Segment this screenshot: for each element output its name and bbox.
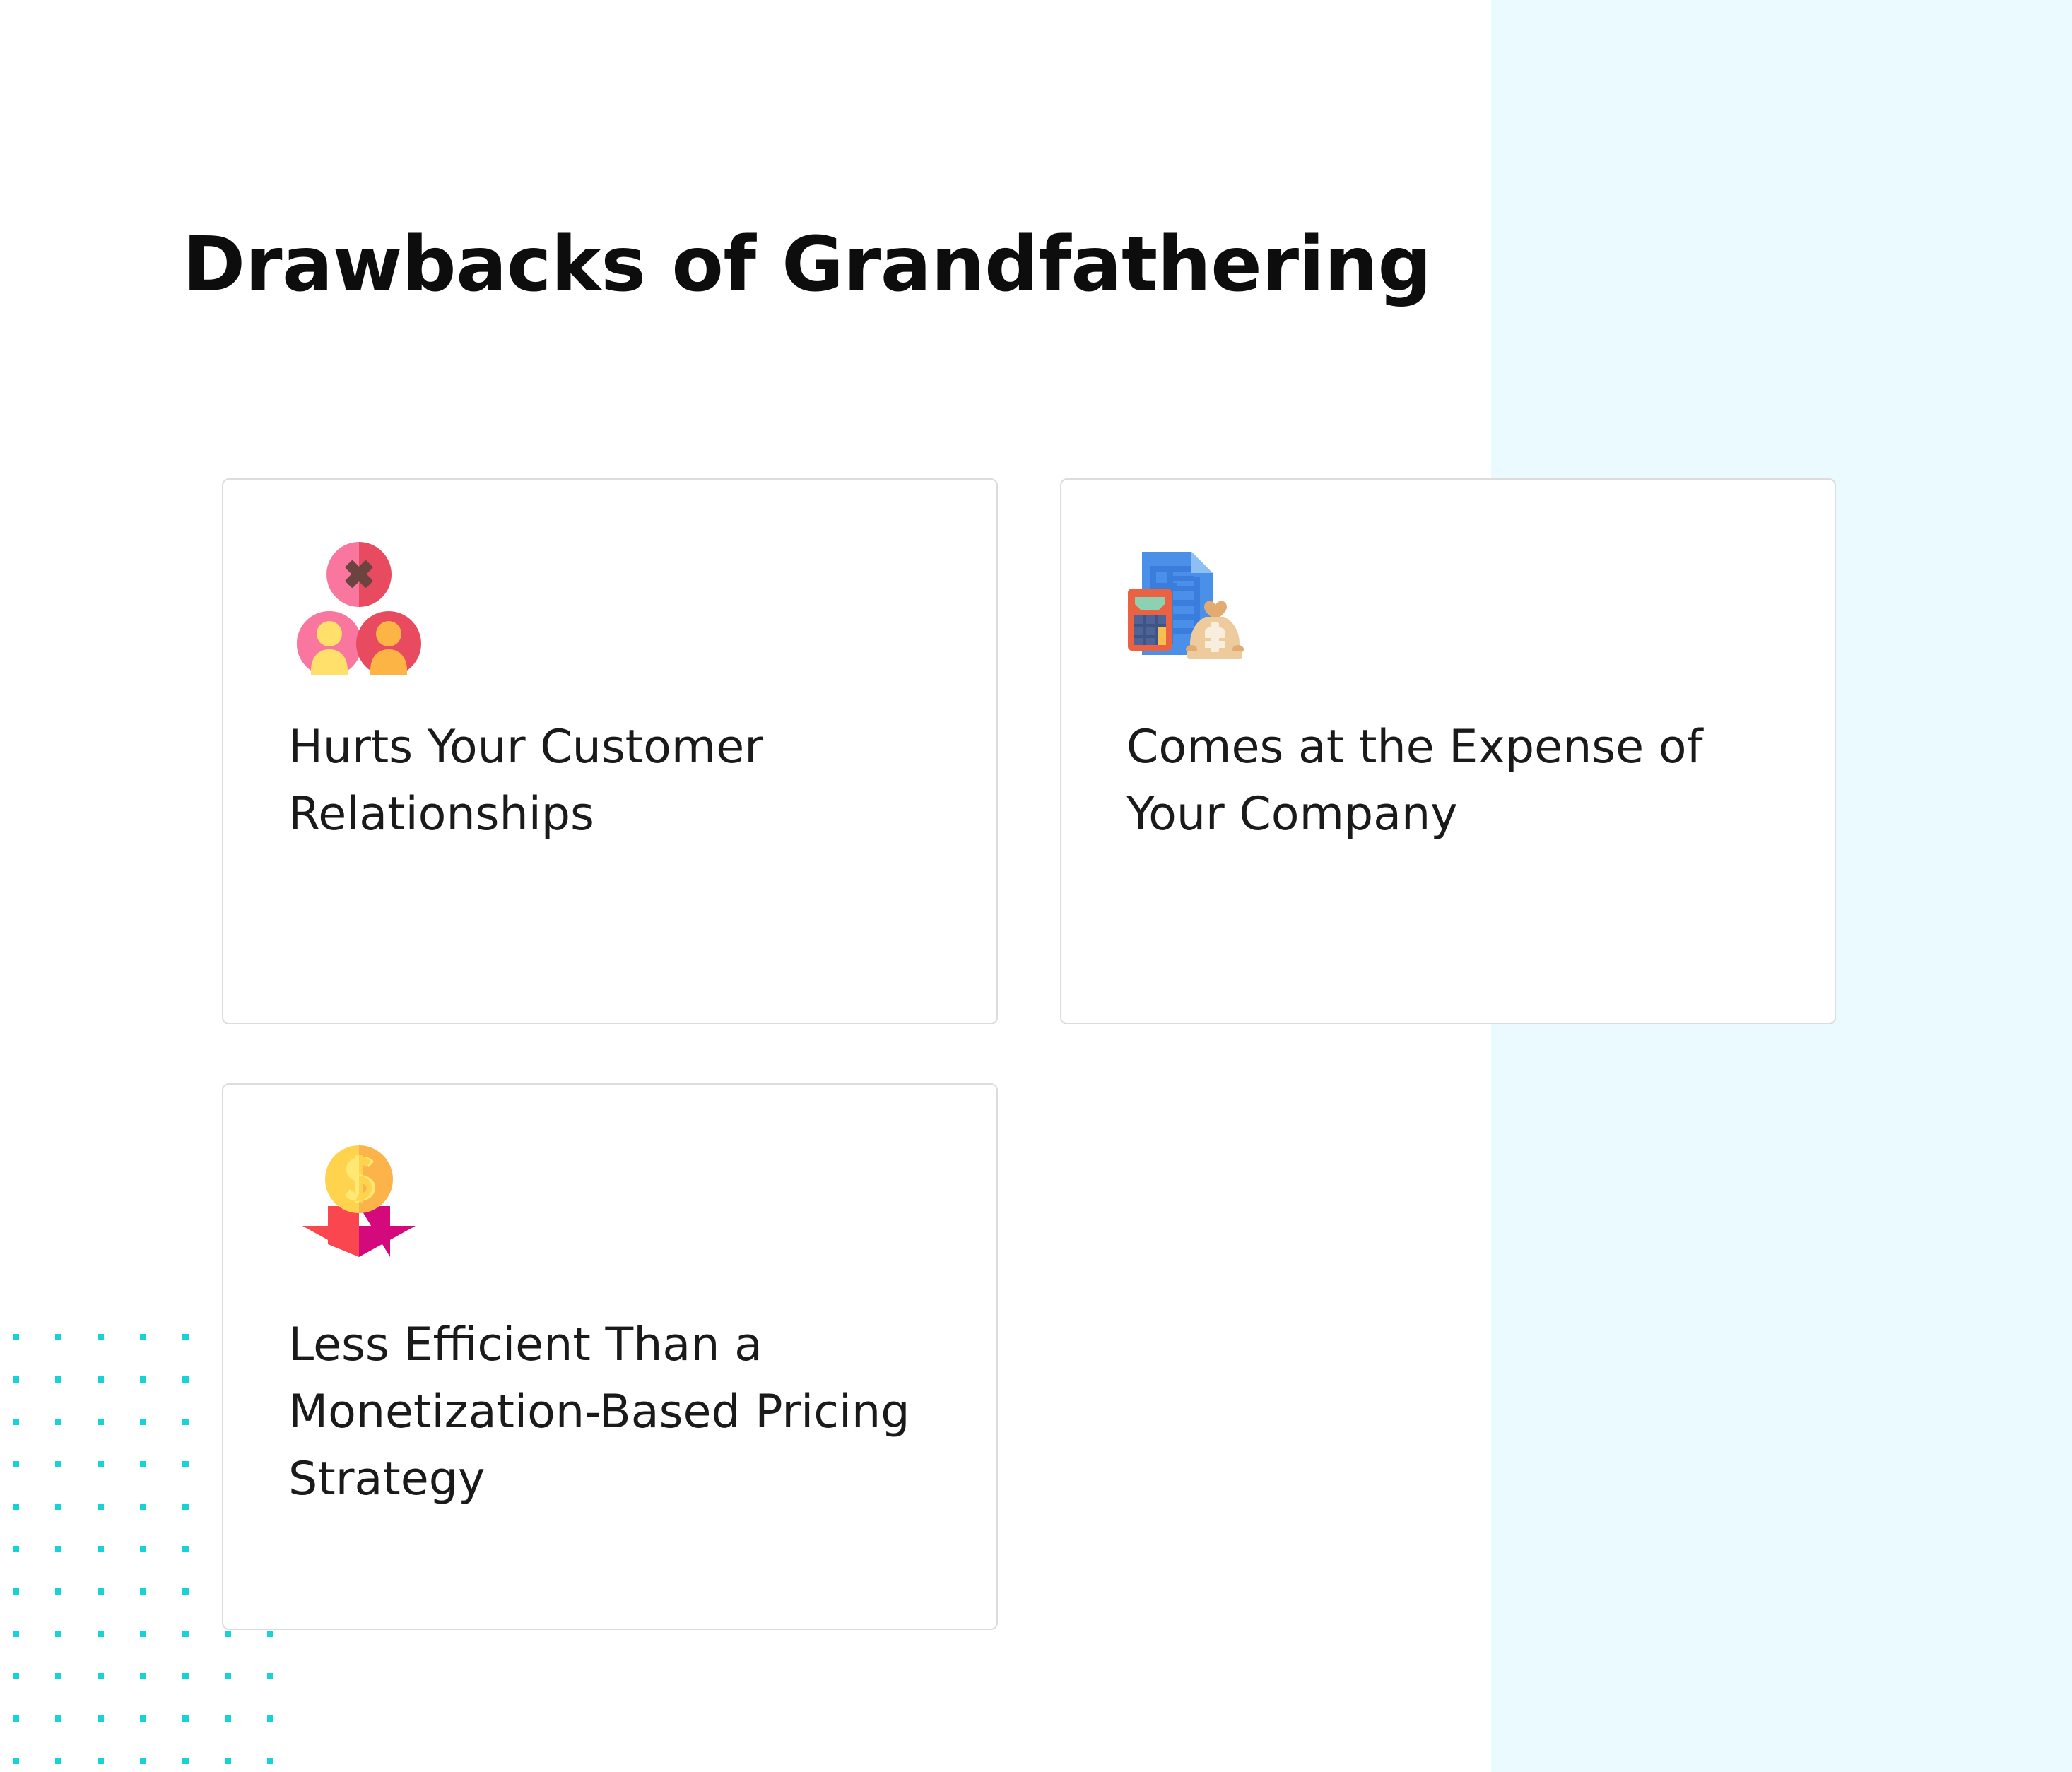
decorative-dot [55, 1504, 61, 1510]
page-title: Drawbacks of Grandfathering [0, 220, 1614, 309]
card-label: Hurts Your Customer Relationships [288, 714, 924, 849]
decorative-dot [140, 1588, 146, 1595]
decorative-dot [13, 1419, 19, 1425]
decorative-dot [55, 1588, 61, 1595]
decorative-dot [182, 1461, 189, 1467]
decorative-dot [98, 1376, 104, 1383]
decorative-dot [13, 1376, 19, 1383]
decorative-dot [55, 1631, 61, 1637]
decorative-dot [182, 1376, 189, 1383]
decorative-dot [98, 1546, 104, 1552]
card-customer-relationships[interactable]: Hurts Your Customer Relationships [222, 478, 998, 1024]
decorative-dot [98, 1419, 104, 1425]
decorative-dot [13, 1631, 19, 1637]
decorative-dot [55, 1758, 61, 1764]
decorative-dot [140, 1631, 146, 1637]
decorative-dot [98, 1334, 104, 1340]
decorative-dot [140, 1758, 146, 1764]
decorative-dot [13, 1504, 19, 1510]
decorative-dot [225, 1758, 231, 1764]
decorative-dot [225, 1715, 231, 1722]
decorative-dot [267, 1631, 273, 1637]
decorative-dot [55, 1334, 61, 1340]
decorative-dot [98, 1588, 104, 1595]
decorative-dot [13, 1588, 19, 1595]
people-blocked-icon [288, 533, 430, 675]
decorative-dot [13, 1546, 19, 1552]
decorative-dot [182, 1419, 189, 1425]
decorative-dot [13, 1461, 19, 1467]
slide-canvas: Drawbacks of Grandfathering [0, 0, 2072, 1772]
decorative-dot [55, 1546, 61, 1552]
decorative-dot [13, 1715, 19, 1722]
decorative-dot [140, 1673, 146, 1679]
decorative-dot [98, 1758, 104, 1764]
decorative-dot [225, 1631, 231, 1637]
decorative-dot [13, 1334, 19, 1340]
decorative-dot [182, 1588, 189, 1595]
decorative-dot [225, 1673, 231, 1679]
decorative-dot [98, 1631, 104, 1637]
decorative-dot [182, 1758, 189, 1764]
decorative-dot [140, 1504, 146, 1510]
decorative-dot [182, 1504, 189, 1510]
decorative-dot [182, 1546, 189, 1552]
card-company-expense[interactable]: Comes at the Expense of Your Company [1060, 478, 1836, 1024]
decorative-dot [182, 1631, 189, 1637]
decorative-dot [13, 1673, 19, 1679]
decorative-dot [55, 1419, 61, 1425]
decorative-dot [140, 1461, 146, 1467]
decorative-dot [55, 1673, 61, 1679]
decorative-dot [98, 1504, 104, 1510]
decorative-dot [98, 1673, 104, 1679]
decorative-dot [267, 1715, 273, 1722]
decorative-dot [140, 1376, 146, 1383]
decorative-dot [182, 1334, 189, 1340]
decorative-dot [140, 1715, 146, 1722]
decorative-dot [182, 1715, 189, 1722]
decorative-dot [98, 1715, 104, 1722]
decorative-dot [140, 1419, 146, 1425]
decorative-dot [55, 1376, 61, 1383]
decorative-dot [140, 1334, 146, 1340]
coin-down-arrow-icon [288, 1138, 430, 1280]
card-label: Comes at the Expense of Your Company [1126, 714, 1762, 849]
decorative-dot [13, 1758, 19, 1764]
decorative-dot [55, 1461, 61, 1467]
decorative-dot [267, 1673, 273, 1679]
budget-calculator-document-icon [1126, 533, 1268, 675]
card-pricing-strategy[interactable]: Less Efficient Than a Monetization-Based… [222, 1083, 998, 1630]
decorative-dot [267, 1758, 273, 1764]
card-label: Less Efficient Than a Monetization-Based… [288, 1312, 924, 1513]
decorative-dot [98, 1461, 104, 1467]
decorative-dot [140, 1546, 146, 1552]
decorative-dot [55, 1715, 61, 1722]
decorative-dot [182, 1673, 189, 1679]
